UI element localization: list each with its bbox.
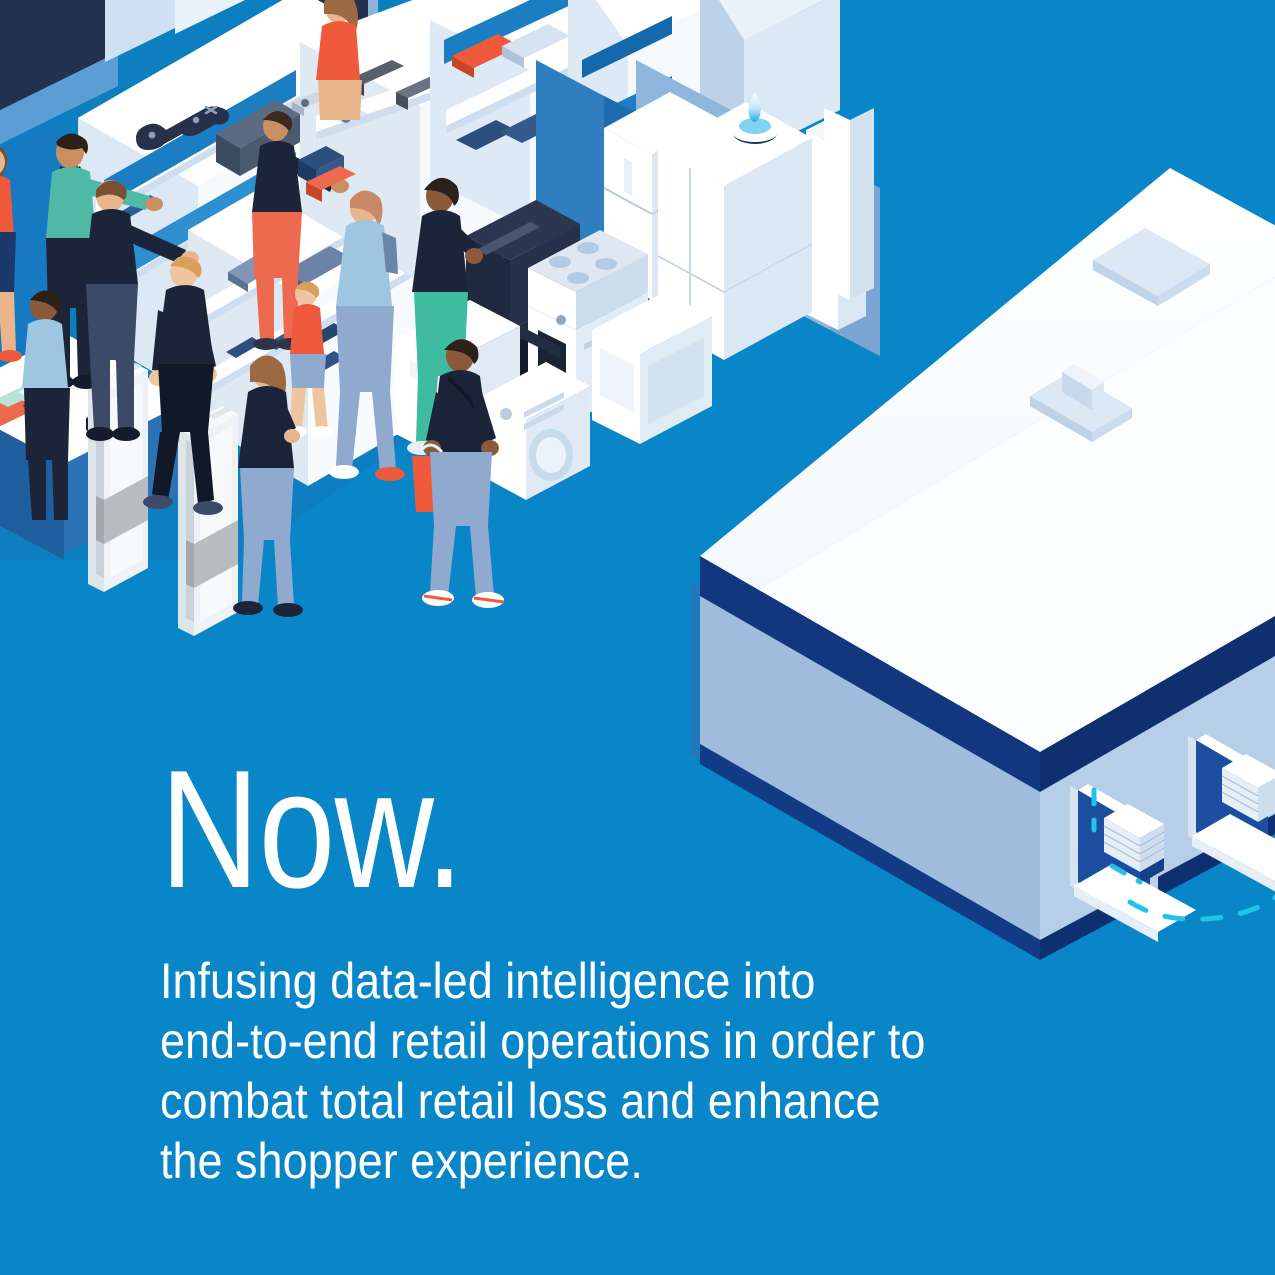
poster-canvas: Now. Infusing data-led intelligence into… <box>0 0 1275 1275</box>
body-copy: Infusing data-led intelligence into end-… <box>160 907 970 1191</box>
store-pillar-2 <box>824 108 874 300</box>
page-title: Now. <box>160 752 898 907</box>
copy-block: Now. Infusing data-led intelligence into… <box>160 752 1060 1191</box>
